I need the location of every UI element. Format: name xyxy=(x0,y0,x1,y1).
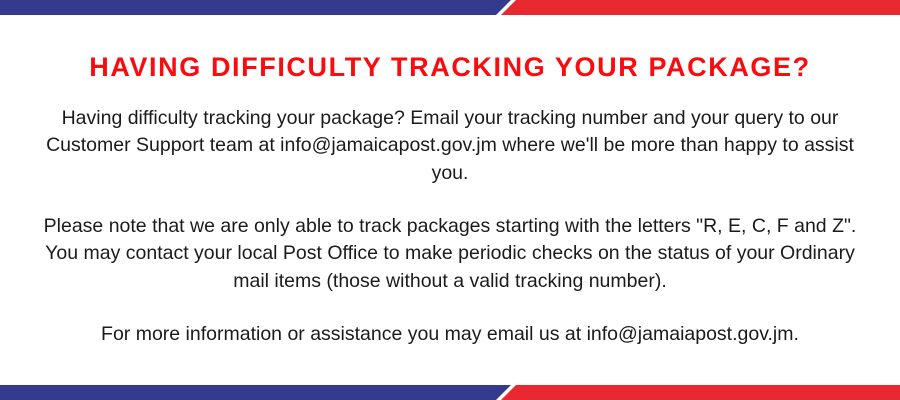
top-banner-red-stripe xyxy=(501,0,900,15)
bottom-banner-red-stripe xyxy=(501,385,900,400)
top-banner-shapes xyxy=(0,0,900,15)
page-title: Having Difficulty Tracking Your Package? xyxy=(28,15,872,83)
top-banner-blue-stripe xyxy=(0,0,511,15)
notice-paragraph-1: Having difficulty tracking your package?… xyxy=(28,105,872,188)
notice-content: Having Difficulty Tracking Your Package?… xyxy=(0,15,900,385)
notice-body: Having difficulty tracking your package?… xyxy=(28,83,872,349)
bottom-banner-shapes xyxy=(0,385,900,400)
bottom-decorative-banner xyxy=(0,385,900,400)
bottom-banner-blue-stripe xyxy=(0,385,511,400)
notice-paragraph-2: Please note that we are only able to tra… xyxy=(28,213,872,296)
notice-paragraph-3: For more information or assistance you m… xyxy=(28,321,872,349)
top-decorative-banner xyxy=(0,0,900,15)
